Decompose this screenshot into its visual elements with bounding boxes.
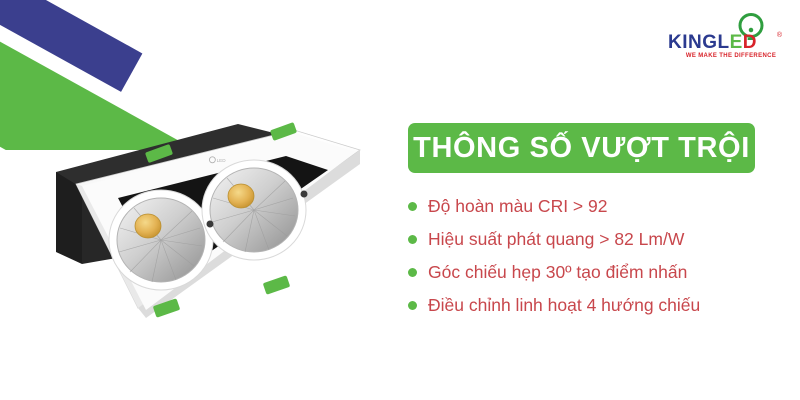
- feature-label: Điều chỉnh linh hoạt 4 hướng chiếu: [428, 295, 700, 316]
- feature-label: Góc chiếu hẹp 30º tạo điểm nhấn: [428, 262, 687, 283]
- bullet-dot-icon: [408, 301, 417, 310]
- product-promo-banner: KINGLED ® WE MAKE THE DIFFERENCE: [0, 0, 800, 400]
- navy-diagonal-stripe: [0, 0, 142, 92]
- kingled-logo: KINGLED ® WE MAKE THE DIFFERENCE: [668, 12, 784, 64]
- list-item: Điều chỉnh linh hoạt 4 hướng chiếu: [408, 289, 798, 322]
- section-title-banner: THÔNG SỐ VƯỢT TRỘI: [408, 123, 755, 173]
- bullet-dot-icon: [408, 235, 417, 244]
- product-brand-stamp-icon: LED: [207, 156, 233, 167]
- reflector-right: [202, 160, 306, 260]
- logo-e-text: E: [730, 32, 743, 53]
- svg-text:LED: LED: [217, 158, 227, 163]
- logo-d-text: D: [743, 32, 757, 53]
- registered-trademark-mark: ®: [777, 32, 782, 39]
- logo-l-text: L: [718, 32, 730, 53]
- list-item: Hiệu suất phát quang > 82 Lm/W: [408, 223, 798, 256]
- pivot-left: [207, 221, 214, 228]
- feature-label: Hiệu suất phát quang > 82 Lm/W: [428, 229, 684, 250]
- feature-label: Độ hoàn màu CRI > 92: [428, 196, 607, 217]
- downlight-illustration: [42, 112, 372, 337]
- feature-list: Độ hoàn màu CRI > 92 Hiệu suất phát quan…: [408, 190, 798, 322]
- bullet-dot-icon: [408, 268, 417, 277]
- logo-king-text: KING: [668, 32, 718, 53]
- list-item: Độ hoàn màu CRI > 92: [408, 190, 798, 223]
- bullet-dot-icon: [408, 202, 417, 211]
- reflector-left: [109, 190, 213, 290]
- list-item: Góc chiếu hẹp 30º tạo điểm nhấn: [408, 256, 798, 289]
- product-image: LED: [42, 112, 372, 337]
- logo-wordmark: KINGLED: [668, 34, 784, 52]
- logo-tagline: WE MAKE THE DIFFERENCE: [677, 53, 785, 59]
- pivot-right: [301, 191, 308, 198]
- page-title: THÔNG SỐ VƯỢT TRỘI: [413, 132, 750, 165]
